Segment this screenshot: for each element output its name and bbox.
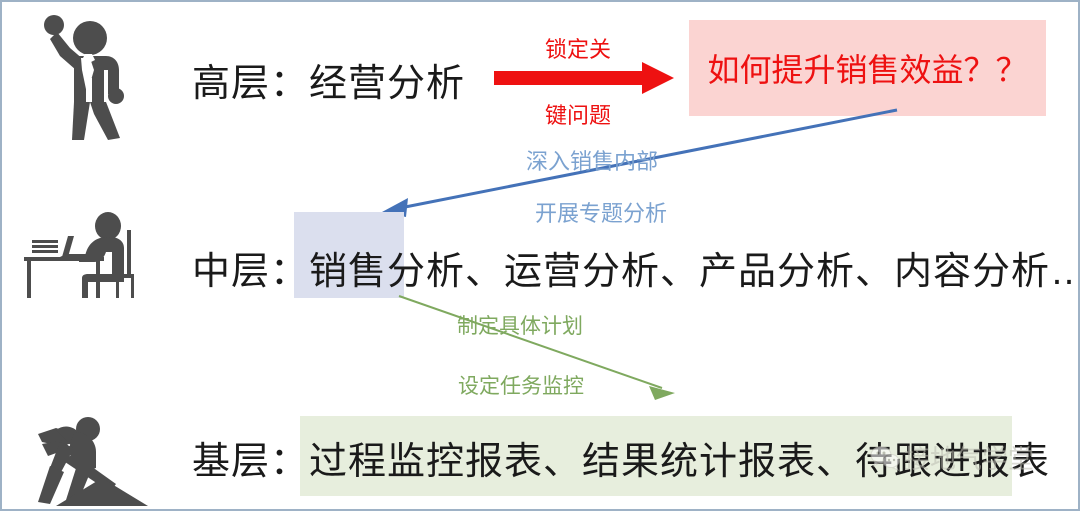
businessman-raised-arm-icon <box>24 8 142 140</box>
blue-arrow-caption-1: 深入销售内部 <box>526 144 658 176</box>
wechat-logo-icon <box>870 445 900 471</box>
middle-row-highlight: 销售分析 <box>309 251 465 293</box>
person-at-desk-laptop-icon <box>16 208 148 304</box>
watermark: 接地气学堂 <box>870 439 1034 476</box>
watermark-text: 接地气学堂 <box>904 439 1034 476</box>
blue-arrow-caption-2: 开展专题分析 <box>535 196 667 228</box>
green-arrow-caption-2: 设定任务监控 <box>458 370 584 400</box>
slide-canvas: 高层：经营分析 锁定关 键问题 如何提升销售效益？？ 深入销售内部 开展专题分析 <box>0 0 1080 511</box>
key-question-text: 如何提升销售效益？？ <box>707 45 1027 91</box>
red-arrow-caption-top: 锁定关 <box>545 32 611 64</box>
right-arrow-icon <box>494 62 674 94</box>
bottom-row-prefix: 基层： <box>192 441 309 483</box>
worker-digging-shovel-icon <box>16 412 148 511</box>
green-arrow-caption-1: 制定具体计划 <box>457 310 583 340</box>
middle-row-suffix: 、运营分析、产品分析、内容分析…… <box>465 251 1080 293</box>
middle-row-prefix: 中层： <box>192 251 309 293</box>
middle-row-label: 中层：销售分析、运营分析、产品分析、内容分析…… <box>192 240 1080 295</box>
top-row-label: 高层：经营分析 <box>192 52 465 107</box>
